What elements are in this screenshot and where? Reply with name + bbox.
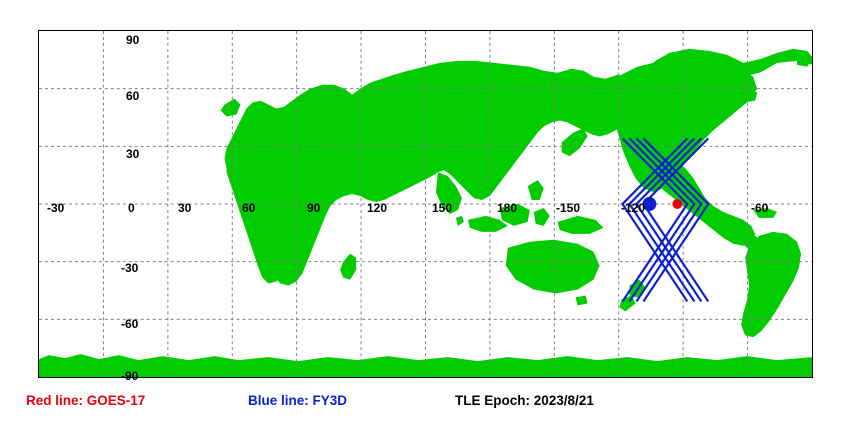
legend-footer: Red line: GOES-17 Blue line: FY3D TLE Ep… (0, 391, 850, 411)
japan (562, 128, 588, 156)
legend-tle-epoch: TLE Epoch: 2023/8/21 (455, 391, 594, 411)
british-isles (221, 99, 241, 117)
legend-red-satellite: GOES-17 (87, 393, 146, 408)
south-america (741, 232, 801, 337)
lon-label-60: 60 (242, 202, 255, 214)
goes17-marker-dot (672, 199, 682, 209)
lon-label-0: 0 (128, 202, 135, 214)
lat-label-60s: -60 (121, 318, 138, 330)
legend-red-prefix: Red line: (26, 393, 83, 408)
lon-label-90: 90 (307, 202, 320, 214)
legend-blue-prefix: Blue line: (248, 393, 309, 408)
tasmania (576, 295, 588, 305)
map-plot-frame (38, 30, 813, 378)
lat-label-90n: 90 (126, 34, 139, 46)
australia (506, 240, 600, 294)
lon-label--30: -30 (47, 202, 64, 214)
new-guinea (558, 216, 604, 234)
lon-label-150: 150 (432, 202, 452, 214)
lon-label--60: -60 (751, 202, 768, 214)
legend-blue-line: Blue line: FY3D (248, 391, 347, 411)
madagascar (340, 254, 356, 280)
lon-label-120: 120 (367, 202, 387, 214)
lon-label-180: 180 (497, 202, 517, 214)
legend-blue-satellite: FY3D (313, 393, 348, 408)
lon-label--150: -150 (556, 202, 580, 214)
lon-label--120: -120 (621, 202, 645, 214)
philippines (528, 180, 544, 200)
legend-red-line: Red line: GOES-17 (26, 391, 145, 411)
legend-epoch-value: 2023/8/21 (534, 393, 594, 408)
legend-epoch-label: TLE Epoch: (455, 393, 530, 408)
map-canvas (39, 31, 812, 377)
lat-label-30s: -30 (121, 262, 138, 274)
sri-lanka (456, 216, 464, 226)
lat-label-30n: 30 (126, 148, 139, 160)
lon-label-30: 30 (178, 202, 191, 214)
world-map: 90 60 30 -30 -60 -90 -30 0 30 60 90 120 … (38, 30, 813, 378)
lat-label-90s: -90 (121, 370, 138, 382)
lat-label-60n: 60 (126, 90, 139, 102)
sulawesi (534, 208, 550, 226)
